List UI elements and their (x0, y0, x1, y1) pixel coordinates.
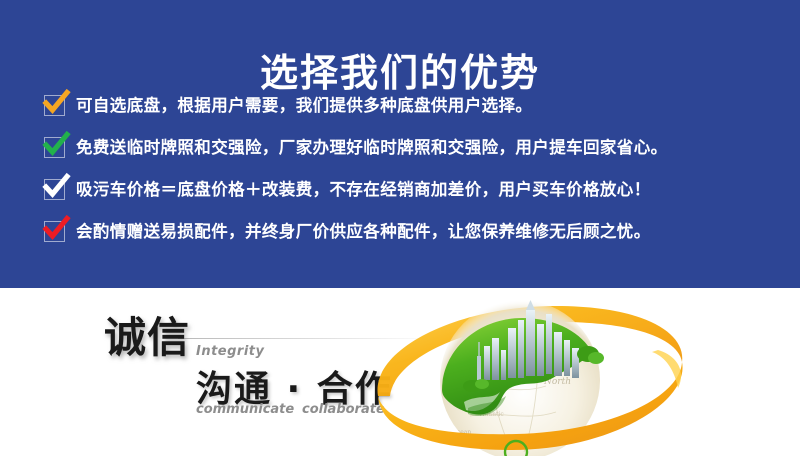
slogan-integrity-en: Integrity (196, 344, 264, 359)
advantage-text: 可自选底盘，根据用户需要，我们提供多种底盘供用户选择。 (76, 90, 532, 121)
slogan-communicate-en: communicate (196, 402, 294, 417)
advantage-list: 可自选底盘，根据用户需要，我们提供多种底盘供用户选择。 免费送临时牌照和交强险，… (44, 90, 784, 258)
advantage-text: 吸污车价格＝底盘价格＋改装费，不存在经销商加差价，用户买车价格放心！ (76, 174, 651, 205)
check-mark-icon (44, 221, 65, 242)
check-mark-icon (44, 95, 65, 116)
check-mark-icon (44, 179, 65, 200)
advantages-panel: 选择我们的优势 可自选底盘，根据用户需要，我们提供多种底盘供用户选择。 免费送临… (0, 0, 800, 288)
list-item: 吸污车价格＝底盘价格＋改装费，不存在经销商加差价，用户买车价格放心！ (44, 174, 784, 216)
advantage-text: 免费送临时牌照和交强险，厂家办理好临时牌照和交强险，用户提车回家省心。 (76, 132, 668, 163)
promo-page: 选择我们的优势 可自选底盘，根据用户需要，我们提供多种底盘供用户选择。 免费送临… (0, 0, 800, 456)
list-item: 会酌情赠送易损配件，并终身厂价供应各种配件，让您保养维修无后顾之忧。 (44, 216, 784, 258)
culture-banner: 诚信 Integrity 沟通 · 合作 communicate collabo… (0, 288, 800, 456)
slogan-integrity-cn: 诚信 (104, 304, 190, 365)
check-mark-icon (44, 137, 65, 158)
advantage-text: 会酌情赠送易损配件，并终身厂价供应各种配件，让您保养维修无后顾之忧。 (76, 216, 651, 247)
list-item: 可自选底盘，根据用户需要，我们提供多种底盘供用户选择。 (44, 90, 784, 132)
green-globe-illustration: North Atlantic Ocean (360, 288, 800, 456)
list-item: 免费送临时牌照和交强险，厂家办理好临时牌照和交强险，用户提车回家省心。 (44, 132, 784, 174)
